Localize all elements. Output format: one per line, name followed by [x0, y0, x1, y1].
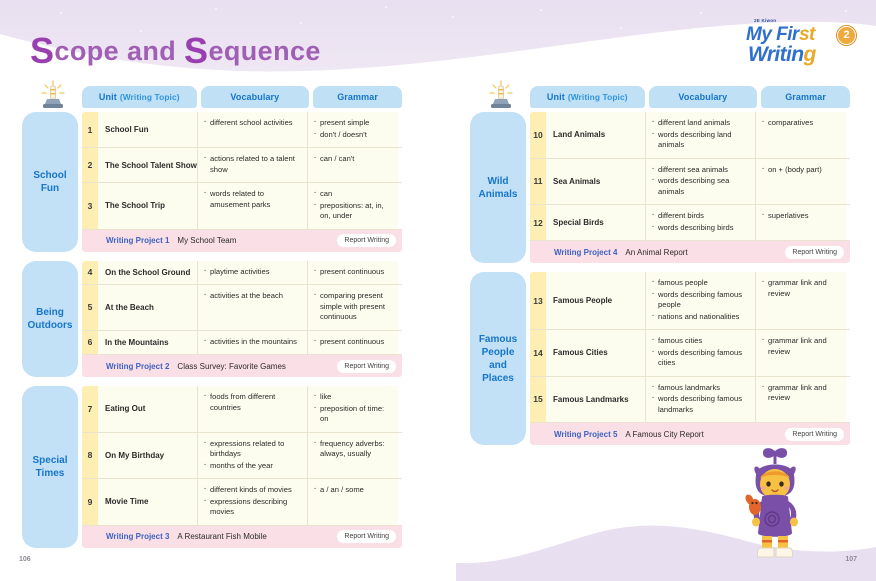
unit-vocabulary: foods from different countries: [198, 386, 308, 432]
category-block[interactable]: SpecialTimes: [22, 386, 78, 548]
vocabulary-item: playtime activities: [204, 267, 302, 278]
writing-project-row[interactable]: Writing Project 3 A Restaurant Fish Mobi…: [82, 526, 402, 548]
unit-grammar: grammar link and review: [756, 377, 846, 423]
unit-topic: The School Trip: [98, 183, 198, 229]
grammar-item: prepositions: at, in, on, under: [314, 201, 394, 222]
unit-rows: 10 Land Animals different land animalswo…: [530, 112, 850, 263]
unit-number: 5: [82, 285, 98, 330]
writing-project-row[interactable]: Writing Project 1 My School Team Report …: [82, 230, 402, 252]
vocabulary-item: different land animals: [652, 118, 750, 129]
vocabulary-item: famous people: [652, 278, 750, 289]
vocabulary-item: words describing land animals: [652, 130, 750, 151]
unit-vocabulary: different land animalswords describing l…: [646, 112, 756, 158]
unit-rows: 7 Eating Out foods from different countr…: [82, 386, 402, 548]
unit-group: SchoolFun 1 School Fun different school …: [22, 112, 402, 252]
unit-grammar: present simpledon't / doesn't: [308, 112, 398, 147]
category-block[interactable]: FamousPeopleandPlaces: [470, 272, 526, 445]
vocabulary-item: words describing birds: [652, 223, 750, 234]
report-writing-badge: Report Writing: [785, 246, 844, 259]
unit-group-inner: WildAnimals 10 Land Animals different la…: [470, 112, 850, 263]
unit-grammar: grammar link and review: [756, 272, 846, 329]
unit-rows: 4 On the School Ground playtime activiti…: [82, 261, 402, 378]
unit-grammar: superlatives: [756, 205, 846, 240]
grammar-item: a / an / some: [314, 485, 394, 496]
category-label-line: Places: [482, 373, 514, 384]
writing-project-title: A Famous City Report: [625, 430, 703, 439]
writing-project-title: A Restaurant Fish Mobile: [177, 532, 266, 541]
unit-number: 1: [82, 112, 98, 147]
grammar-item: frequency adverbs: always, usually: [314, 439, 394, 460]
grammar-item: present continuous: [314, 267, 394, 278]
grammar-item: superlatives: [762, 211, 842, 222]
unit-number: 2: [82, 148, 98, 182]
category-label-line: Wild: [487, 176, 508, 187]
unit-topic: The School Talent Show: [98, 148, 198, 182]
page-title-text-1: cope and: [54, 36, 184, 66]
vocabulary-item: expressions describing movies: [204, 497, 302, 518]
vocabulary-item: expressions related to birthdays: [204, 439, 302, 460]
unit-grammar: present continuous: [308, 331, 398, 355]
vocabulary-item: words describing famous cities: [652, 348, 750, 369]
column-header-vocabulary: Vocabulary: [649, 86, 758, 108]
category-label-line: Times: [36, 468, 65, 479]
unit-vocabulary: different sea animalswords describing se…: [646, 159, 756, 205]
level-badge: 2: [837, 26, 856, 45]
page-number-left: 106: [19, 556, 31, 563]
unit-vocabulary: actions related to a talent show: [198, 148, 308, 182]
unit-vocabulary: activities in the mountains: [198, 331, 308, 355]
vocabulary-item: words related to amusement parks: [204, 189, 302, 210]
unit-topic: School Fun: [98, 112, 198, 147]
unit-group-inner: SchoolFun 1 School Fun different school …: [22, 112, 402, 252]
mascot-girl-icon: [732, 445, 818, 563]
table-row[interactable]: 1 School Fun different school activities…: [82, 112, 402, 148]
writing-project-title: An Animal Report: [625, 248, 687, 257]
unit-topic: Land Animals: [546, 112, 646, 158]
column-header-unit-sub: (Writing Topic): [120, 92, 180, 102]
unit-grammar: present continuous: [308, 261, 398, 285]
unit-grammar: comparing present simple with present co…: [308, 285, 398, 330]
logo-line-2: Writing: [748, 43, 816, 67]
writing-project-label: Writing Project 5: [554, 430, 617, 439]
page-title: Scope and Sequence: [30, 30, 321, 72]
vocabulary-item: different kinds of movies: [204, 485, 302, 496]
table-row[interactable]: 2 The School Talent Show actions related…: [82, 148, 402, 183]
unit-number: 11: [530, 159, 546, 205]
vocabulary-item: foods from different countries: [204, 392, 302, 413]
column-header-vocabulary: Vocabulary: [201, 86, 310, 108]
report-writing-badge: Report Writing: [337, 360, 396, 373]
grammar-item: don't / doesn't: [314, 130, 394, 141]
vocabulary-item: nations and nationalities: [652, 312, 750, 323]
brand-logo: 2E Kiwon My First Writing 2: [736, 18, 858, 70]
unit-rows: 13 Famous People famous peoplewords desc…: [530, 272, 850, 445]
unit-topic: Sea Animals: [546, 159, 646, 205]
unit-number: 15: [530, 377, 546, 423]
unit-topic: Movie Time: [98, 479, 198, 525]
unit-topic: Famous People: [546, 272, 646, 329]
unit-vocabulary: expressions related to birthdaysmonths o…: [198, 433, 308, 479]
category-label-line: Outdoors: [28, 320, 73, 331]
unit-vocabulary: different school activities: [198, 112, 308, 147]
column-header-unit-label: Unit: [547, 92, 565, 102]
vocabulary-item: words describing famous landmarks: [652, 394, 750, 415]
unit-number: 3: [82, 183, 98, 229]
category-block[interactable]: SchoolFun: [22, 112, 78, 252]
unit-grammar: frequency adverbs: always, usually: [308, 433, 398, 479]
column-header-unit: Unit (Writing Topic): [530, 86, 645, 108]
table-row[interactable]: 5 At the Beach activities at the beach c…: [82, 285, 402, 331]
unit-topic: Eating Out: [98, 386, 198, 432]
category-label-line: Special: [32, 455, 67, 466]
page-title-text-2: equence: [208, 36, 320, 66]
column-header-unit-label: Unit: [99, 92, 117, 102]
unit-vocabulary: different kinds of moviesexpressions des…: [198, 479, 308, 525]
table-row[interactable]: 8 On My Birthday expressions related to …: [82, 433, 402, 480]
unit-number: 12: [530, 205, 546, 240]
category-label: WildAnimals: [479, 175, 518, 201]
table-row[interactable]: 3 The School Trip words related to amuse…: [82, 183, 402, 230]
table-row[interactable]: 13 Famous People famous peoplewords desc…: [530, 272, 850, 330]
unit-group: SpecialTimes 7 Eating Out foods from dif…: [22, 386, 402, 548]
grammar-item: comparatives: [762, 118, 842, 129]
column-header-unit: Unit (Writing Topic): [82, 86, 197, 108]
table-row[interactable]: 14 Famous Cities famous citieswords desc…: [530, 330, 850, 377]
report-writing-badge: Report Writing: [785, 428, 844, 441]
category-label: FamousPeopleandPlaces: [479, 333, 517, 385]
column-header-unit-sub: (Writing Topic): [568, 92, 628, 102]
unit-number: 14: [530, 330, 546, 376]
unit-group-inner: BeingOutdoors 4 On the School Ground pla…: [22, 261, 402, 378]
grammar-item: like: [314, 392, 394, 403]
column-header-grammar: Grammar: [761, 86, 850, 108]
unit-grammar: a / an / some: [308, 479, 398, 525]
unit-group: WildAnimals 10 Land Animals different la…: [470, 112, 850, 263]
unit-topic: On My Birthday: [98, 433, 198, 479]
grammar-item: grammar link and review: [762, 336, 842, 357]
unit-topic: Special Birds: [546, 205, 646, 240]
vocabulary-item: famous cities: [652, 336, 750, 347]
scope-table-right: Unit (Writing Topic) Vocabulary Grammar …: [470, 86, 850, 445]
unit-vocabulary: playtime activities: [198, 261, 308, 285]
unit-grammar: comparatives: [756, 112, 846, 158]
unit-number: 8: [82, 433, 98, 479]
table-row[interactable]: 12 Special Birds different birdswords de…: [530, 205, 850, 241]
table-row[interactable]: 15 Famous Landmarks famous landmarksword…: [530, 377, 850, 424]
table-row[interactable]: 11 Sea Animals different sea animalsword…: [530, 159, 850, 206]
category-label-line: and: [489, 360, 507, 371]
writing-project-title: My School Team: [177, 236, 236, 245]
grammar-item: grammar link and review: [762, 383, 842, 404]
table-header-row: Unit (Writing Topic) Vocabulary Grammar: [530, 86, 850, 108]
grammar-item: can: [314, 189, 394, 200]
unit-group: BeingOutdoors 4 On the School Ground pla…: [22, 261, 402, 378]
report-writing-badge: Report Writing: [337, 530, 396, 543]
unit-number: 9: [82, 479, 98, 525]
unit-vocabulary: different birdswords describing birds: [646, 205, 756, 240]
unit-topic: At the Beach: [98, 285, 198, 330]
category-label: SpecialTimes: [32, 454, 67, 480]
table-row[interactable]: 7 Eating Out foods from different countr…: [82, 386, 402, 433]
grammar-item: present simple: [314, 118, 394, 129]
writing-project-label: Writing Project 4: [554, 248, 617, 257]
lighthouse-icon: [36, 80, 70, 110]
unit-number: 6: [82, 331, 98, 355]
table-row[interactable]: 4 On the School Ground playtime activiti…: [82, 261, 402, 286]
writing-project-row[interactable]: Writing Project 2 Class Survey: Favorite…: [82, 355, 402, 377]
writing-project-row[interactable]: Writing Project 4 An Animal Report Repor…: [530, 241, 850, 263]
vocabulary-item: activities at the beach: [204, 291, 302, 302]
category-label-line: People: [482, 347, 515, 358]
unit-topic: Famous Landmarks: [546, 377, 646, 423]
writing-project-label: Writing Project 3: [106, 532, 169, 541]
category-label-line: Being: [36, 307, 64, 318]
unit-grammar: grammar link and review: [756, 330, 846, 376]
publisher-mark: 2E Kiwon: [754, 18, 776, 23]
unit-vocabulary: activities at the beach: [198, 285, 308, 330]
unit-rows: 1 School Fun different school activities…: [82, 112, 402, 252]
unit-topic: On the School Ground: [98, 261, 198, 285]
vocabulary-item: famous landmarks: [652, 383, 750, 394]
grammar-item: present continuous: [314, 337, 394, 348]
page-title-cap-2: S: [184, 30, 208, 71]
table-row[interactable]: 9 Movie Time different kinds of moviesex…: [82, 479, 402, 526]
page-title-cap-1: S: [30, 30, 54, 71]
vocabulary-item: words describing famous people: [652, 290, 750, 311]
vocabulary-item: different school activities: [204, 118, 302, 129]
grammar-item: comparing present simple with present co…: [314, 291, 394, 323]
writing-project-label: Writing Project 1: [106, 236, 169, 245]
unit-vocabulary: famous peoplewords describing famous peo…: [646, 272, 756, 329]
unit-number: 4: [82, 261, 98, 285]
unit-grammar: canprepositions: at, in, on, under: [308, 183, 398, 229]
vocabulary-item: actions related to a talent show: [204, 154, 302, 175]
report-writing-badge: Report Writing: [337, 234, 396, 247]
unit-group-inner: FamousPeopleandPlaces 13 Famous People f…: [470, 272, 850, 445]
writing-project-label: Writing Project 2: [106, 362, 169, 371]
unit-grammar: on + (body part): [756, 159, 846, 205]
writing-project-row[interactable]: Writing Project 5 A Famous City Report R…: [530, 423, 850, 445]
category-label: SchoolFun: [33, 169, 66, 195]
category-label-line: School: [33, 170, 66, 181]
category-block[interactable]: WildAnimals: [470, 112, 526, 263]
grammar-item: on + (body part): [762, 165, 842, 176]
unit-vocabulary: famous landmarkswords describing famous …: [646, 377, 756, 423]
category-block[interactable]: BeingOutdoors: [22, 261, 78, 378]
scope-table-left: Unit (Writing Topic) Vocabulary Grammar …: [22, 86, 402, 548]
column-header-grammar: Grammar: [313, 86, 402, 108]
writing-project-title: Class Survey: Favorite Games: [177, 362, 285, 371]
grammar-item: preposition of time: on: [314, 404, 394, 425]
grammar-item: grammar link and review: [762, 278, 842, 299]
category-label: BeingOutdoors: [28, 306, 73, 332]
unit-grammar: can / can't: [308, 148, 398, 182]
category-label-line: Fun: [41, 183, 59, 194]
unit-vocabulary: famous citieswords describing famous cit…: [646, 330, 756, 376]
lighthouse-icon: [484, 80, 518, 110]
table-header-row: Unit (Writing Topic) Vocabulary Grammar: [82, 86, 402, 108]
grammar-item: can / can't: [314, 154, 394, 165]
unit-topic: Famous Cities: [546, 330, 646, 376]
unit-number: 13: [530, 272, 546, 329]
page-number-right: 107: [845, 556, 857, 563]
vocabulary-item: different sea animals: [652, 165, 750, 176]
unit-group: FamousPeopleandPlaces 13 Famous People f…: [470, 272, 850, 445]
unit-vocabulary: words related to amusement parks: [198, 183, 308, 229]
unit-number: 10: [530, 112, 546, 158]
category-label-line: Animals: [479, 189, 518, 200]
unit-number: 7: [82, 386, 98, 432]
vocabulary-item: activities in the mountains: [204, 337, 302, 348]
unit-grammar: likepreposition of time: on: [308, 386, 398, 432]
vocabulary-item: different birds: [652, 211, 750, 222]
unit-group-inner: SpecialTimes 7 Eating Out foods from dif…: [22, 386, 402, 548]
vocabulary-item: months of the year: [204, 461, 302, 472]
vocabulary-item: words describing sea animals: [652, 176, 750, 197]
table-row[interactable]: 10 Land Animals different land animalswo…: [530, 112, 850, 159]
category-label-line: Famous: [479, 334, 517, 345]
table-row[interactable]: 6 In the Mountains activities in the mou…: [82, 331, 402, 356]
unit-topic: In the Mountains: [98, 331, 198, 355]
